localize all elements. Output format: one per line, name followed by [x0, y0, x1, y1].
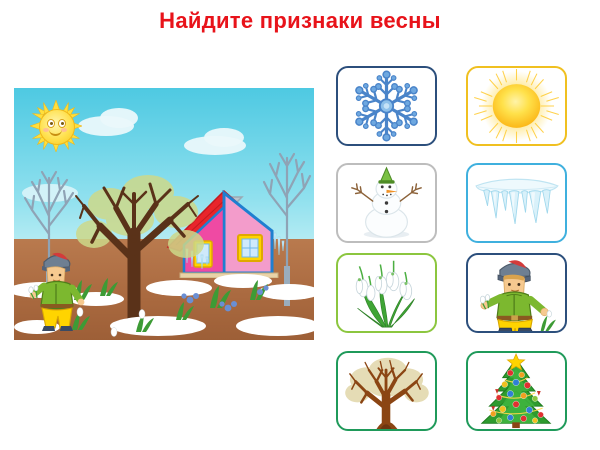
- page-title: Найдите признаки весны: [0, 8, 600, 34]
- picture-card-grid: Снежинка: [336, 64, 584, 436]
- card-sun[interactable]: Солнце: [466, 66, 567, 146]
- smiling-sun-icon: [30, 100, 82, 152]
- budding-tree-icon: [338, 353, 435, 429]
- card-snowflake[interactable]: Снежинка: [336, 66, 437, 146]
- christmas-tree-icon: [468, 353, 565, 429]
- sun-face: [39, 109, 75, 145]
- icicles-icon: [468, 165, 565, 241]
- snowdrops-icon: [338, 255, 435, 331]
- sun-icon: [468, 68, 565, 144]
- snowflake-icon: [338, 68, 435, 144]
- card-snowdrops[interactable]: Подснежники: [336, 253, 437, 333]
- snowman-icon: [338, 165, 435, 241]
- card-christmas-tree[interactable]: Новогодняя ёлка: [466, 351, 567, 431]
- card-snowman[interactable]: Снеговик: [336, 163, 437, 243]
- spring-scene-illustration: [14, 88, 314, 340]
- boy-icon: [468, 255, 565, 331]
- cloud-icon: [204, 128, 244, 147]
- card-boy-in-spring-clothes[interactable]: Мальчик в весенней одежде: [466, 253, 567, 333]
- card-budding-tree[interactable]: Дерево с почками: [336, 351, 437, 431]
- boy-walking: [28, 246, 86, 334]
- cloud-icon: [100, 108, 138, 128]
- card-icicles[interactable]: Сосульки: [466, 163, 567, 243]
